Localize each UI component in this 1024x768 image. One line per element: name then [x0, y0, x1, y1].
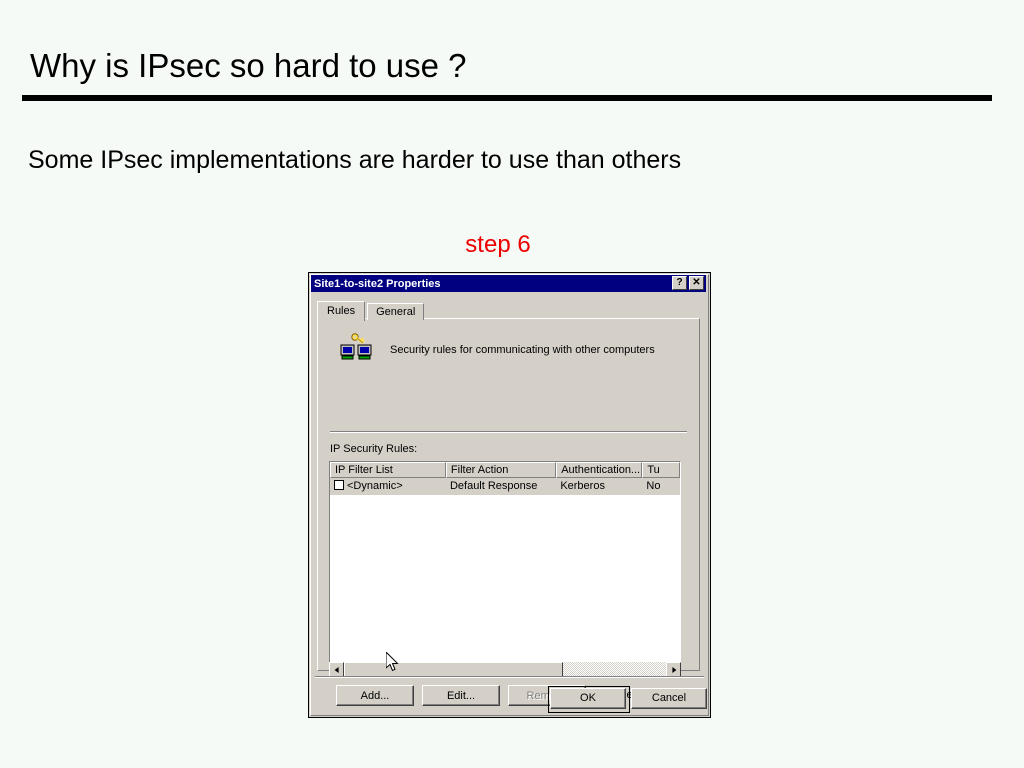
- scrollbar-thumb[interactable]: [344, 662, 563, 677]
- description-row: Security rules for communicating with ot…: [340, 333, 655, 366]
- close-icon[interactable]: ✕: [689, 276, 704, 290]
- tab-general[interactable]: General: [367, 303, 424, 320]
- cell-ip-filter-list-text: <Dynamic>: [347, 480, 403, 492]
- listview-horizontal-scrollbar[interactable]: [329, 662, 681, 677]
- scroll-left-arrow-icon[interactable]: [329, 662, 344, 677]
- footer-separator: [315, 676, 704, 678]
- cell-filter-action: Default Response: [446, 478, 556, 495]
- ip-security-rules-listview[interactable]: IP Filter List Filter Action Authenticat…: [329, 461, 681, 670]
- scroll-right-arrow-icon[interactable]: [666, 662, 681, 677]
- column-header-authentication[interactable]: Authentication...: [556, 462, 642, 478]
- column-header-tunnel-setting[interactable]: Tu: [642, 462, 680, 478]
- edit-button[interactable]: Edit...: [422, 685, 500, 706]
- tab-strip: Rules General: [319, 301, 426, 320]
- page-title: Why is IPsec so hard to use ?: [30, 47, 467, 85]
- column-header-ip-filter-list[interactable]: IP Filter List: [330, 462, 446, 478]
- ok-button-label: OK: [580, 692, 596, 704]
- help-icon[interactable]: ?: [672, 276, 687, 290]
- scrollbar-track[interactable]: [344, 662, 666, 677]
- table-row[interactable]: <Dynamic> Default Response Kerberos No: [330, 478, 680, 495]
- titlebar-button-group: ? ✕: [672, 276, 704, 290]
- slide-subtitle: Some IPsec implementations are harder to…: [28, 146, 681, 175]
- section-separator: [330, 431, 687, 433]
- rule-checkbox[interactable]: [334, 480, 344, 490]
- properties-dialog: Site1-to-site2 Properties ? ✕ Rules Gene…: [308, 272, 711, 718]
- cell-tunnel-setting: No: [642, 478, 680, 495]
- dialog-title-text: Site1-to-site2 Properties: [314, 278, 441, 290]
- dialog-titlebar[interactable]: Site1-to-site2 Properties ? ✕: [311, 275, 706, 292]
- column-header-filter-action[interactable]: Filter Action: [446, 462, 556, 478]
- listview-empty-area: [330, 495, 680, 653]
- listview-header-row: IP Filter List Filter Action Authenticat…: [330, 462, 680, 478]
- cell-authentication: Kerberos: [556, 478, 642, 495]
- two-computers-with-key-icon: [340, 333, 374, 366]
- tab-rules[interactable]: Rules: [317, 301, 365, 321]
- dialog-description-text: Security rules for communicating with ot…: [390, 344, 655, 356]
- step-caption-text: step 6: [465, 231, 530, 258]
- add-button[interactable]: Add...: [336, 685, 414, 706]
- cell-ip-filter-list: <Dynamic>: [330, 478, 446, 495]
- step-caption: step 6: [0, 231, 1024, 259]
- title-underline-rule: [22, 95, 992, 101]
- ip-security-rules-label: IP Security Rules:: [330, 443, 417, 455]
- rules-tab-panel: Security rules for communicating with ot…: [317, 318, 700, 671]
- ok-button[interactable]: OK: [550, 688, 626, 709]
- cancel-button[interactable]: Cancel: [631, 688, 707, 709]
